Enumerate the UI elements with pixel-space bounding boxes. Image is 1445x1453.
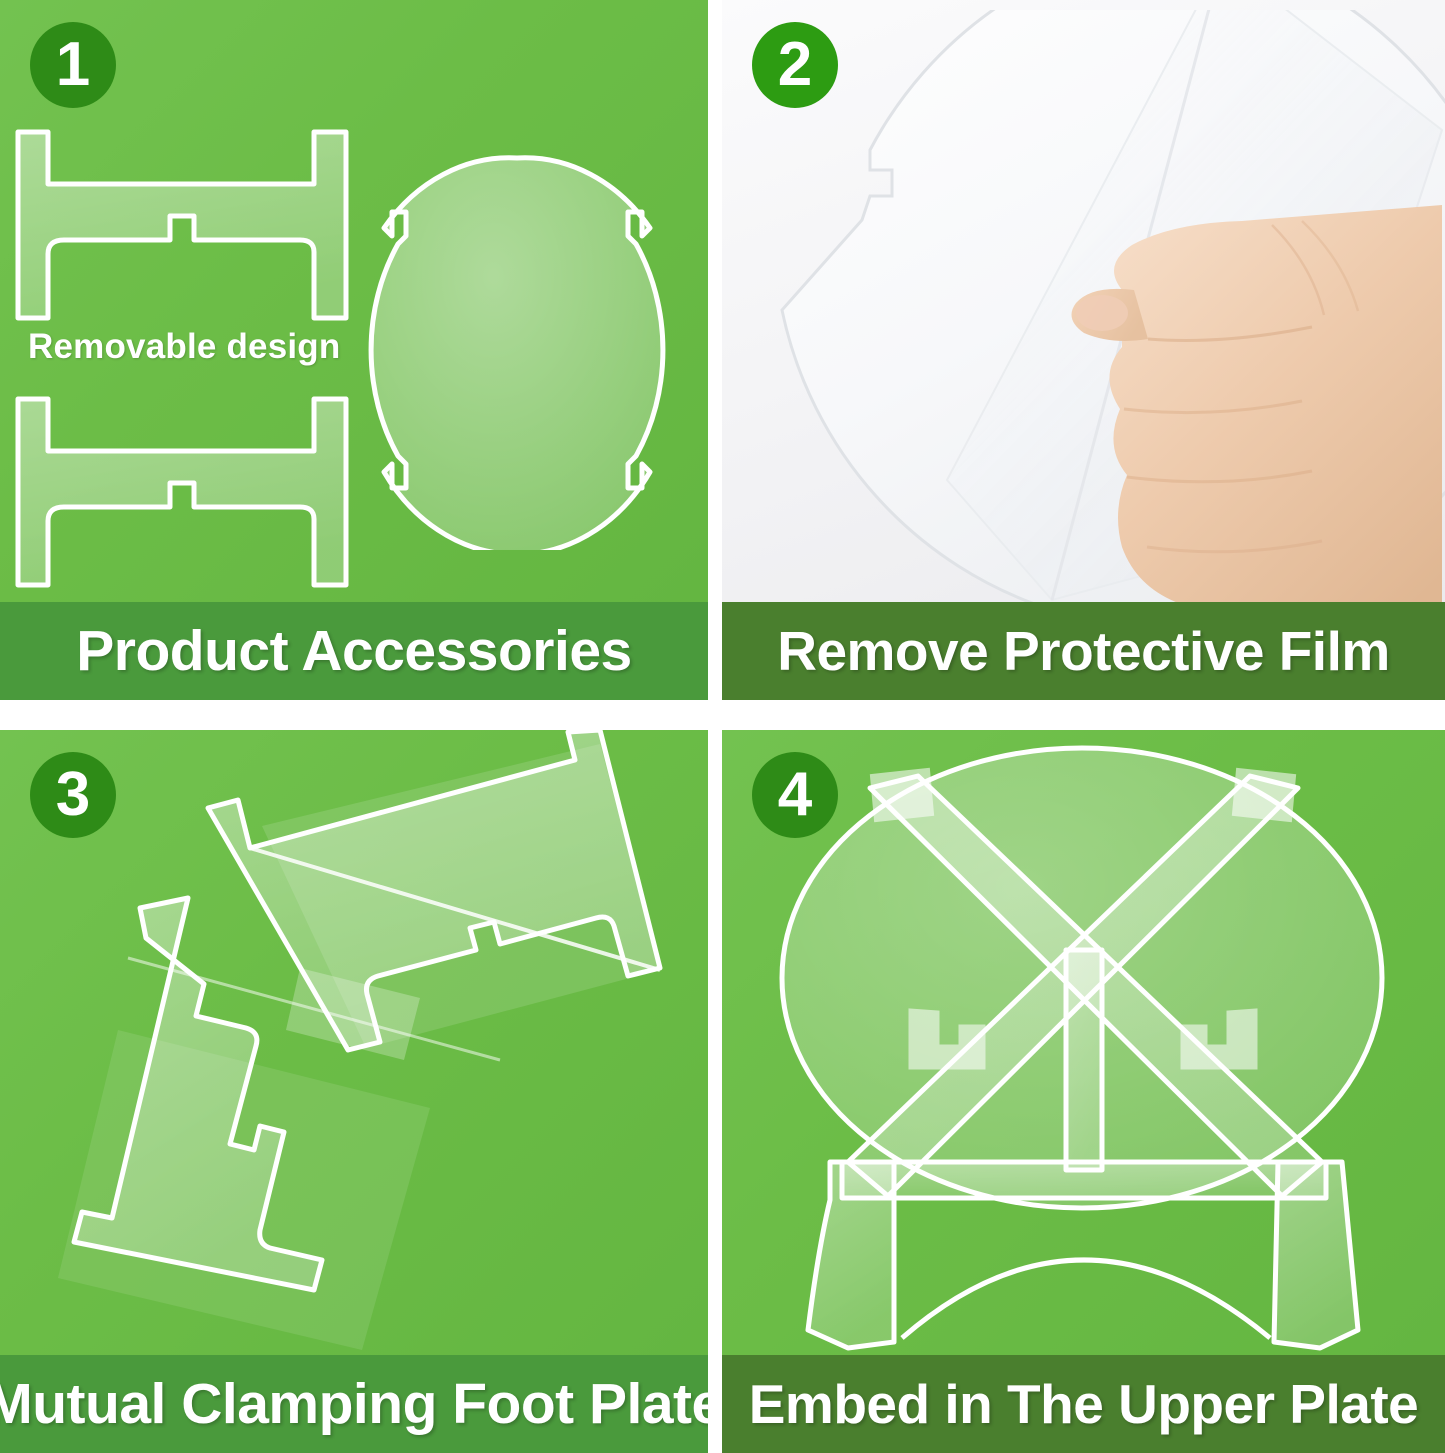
crossed-foot-plates-icon bbox=[0, 730, 708, 1355]
instruction-infographic: 1 bbox=[0, 0, 1445, 1453]
acrylic-leg-top-icon bbox=[14, 128, 350, 324]
step-number-badge-2: 2 bbox=[752, 22, 838, 108]
step-3-illustration: 3 bbox=[0, 730, 708, 1355]
step-panel-3: 3 bbox=[0, 730, 708, 1453]
step-number-badge-1: 1 bbox=[30, 22, 116, 108]
step-3-caption-text: Mutual Clamping Foot Plate bbox=[0, 1371, 708, 1437]
assembled-stand-icon bbox=[722, 730, 1445, 1355]
step-2-caption-text: Remove Protective Film bbox=[777, 619, 1390, 683]
step-1-illustration: 1 bbox=[0, 0, 708, 602]
step-panel-2: 2 bbox=[722, 0, 1445, 700]
step-panel-4: 4 bbox=[722, 730, 1445, 1453]
hand-icon bbox=[972, 195, 1445, 602]
step-4-caption-bar: Embed in The Upper Plate bbox=[722, 1355, 1445, 1453]
step-panel-1: 1 bbox=[0, 0, 708, 700]
acrylic-round-plate-icon bbox=[352, 150, 682, 550]
step-4-illustration: 4 bbox=[722, 730, 1445, 1355]
step-4-caption-text: Embed in The Upper Plate bbox=[749, 1372, 1419, 1436]
step-3-caption-bar: Mutual Clamping Foot Plate bbox=[0, 1355, 708, 1453]
step-2-caption-bar: Remove Protective Film bbox=[722, 602, 1445, 700]
step-1-caption-bar: Product Accessories bbox=[0, 602, 708, 700]
step-2-illustration: 2 bbox=[722, 0, 1445, 602]
step-1-caption-text: Product Accessories bbox=[76, 618, 631, 684]
step-number-badge-4: 4 bbox=[752, 752, 838, 838]
step-number-badge-3: 3 bbox=[30, 752, 116, 838]
removable-design-label: Removable design bbox=[28, 327, 340, 367]
acrylic-leg-bottom-icon bbox=[14, 395, 350, 591]
